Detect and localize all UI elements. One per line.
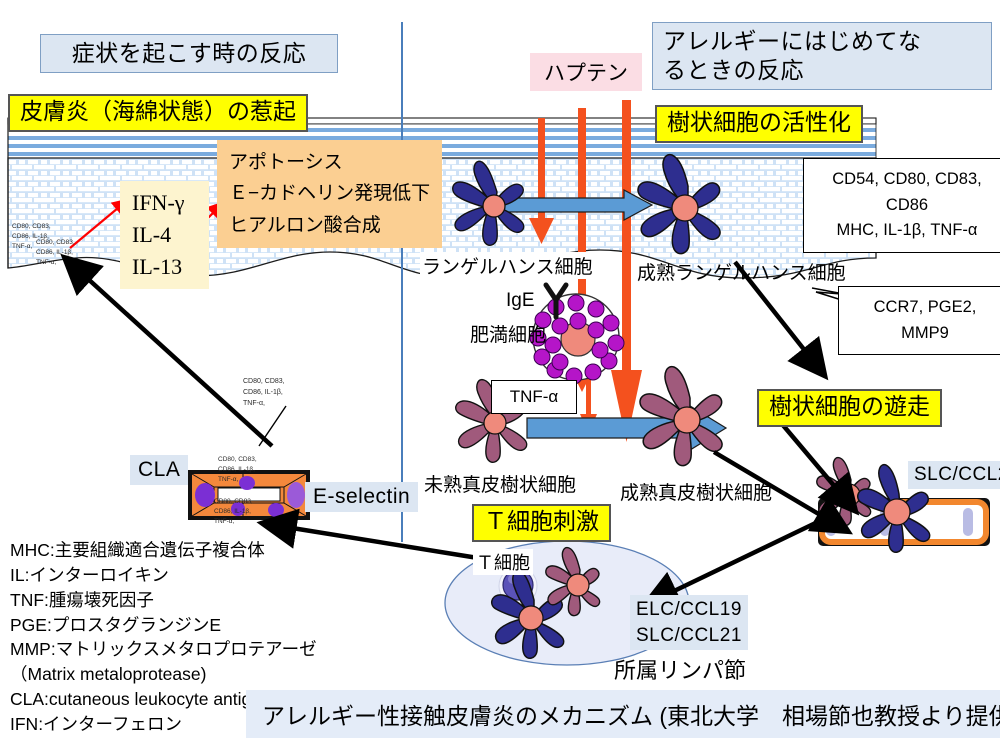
micro-vessel-markers-b: CD80, CD83, CD86, IL-1β, TNF-α, [218, 455, 257, 485]
label-dermatitis: 皮膚炎（海綿状態）の惹起 [8, 94, 308, 132]
header-left: 症状を起こす時の反応 [40, 34, 338, 73]
dermal-dc-mature [640, 367, 722, 466]
box-cytokines: IFN-γ IL-4 IL-13 [120, 181, 209, 289]
label-hapten: ハプテン [530, 53, 642, 91]
label-t-cell: Ｔ細胞 [473, 549, 533, 575]
label-slc-ccl21: SLC/CCL21 [908, 461, 1000, 489]
micro-vessel-markers-a: CD80, CD83, CD86, IL-1β, TNF-α, [243, 377, 285, 410]
label-mature-dermal-dc: 成熟真皮樹状細胞 [620, 478, 772, 505]
micro-vessel-markers-c: CD80, CD83, CD86, IL-1β, TNF-α, [214, 497, 253, 527]
micro-epidermis-markers-b: CD80, CD83, CD86, IL-1β, TNF-α, [36, 238, 75, 268]
callout-activation-markers: CD54, CD80, CD83, CD86 MHC, IL-1β, TNF-α [803, 158, 1000, 253]
label-dc-activation: 樹状細胞の活性化 [655, 105, 863, 143]
label-t-cell-stimulation: Ｔ細胞刺激 [472, 504, 611, 542]
header-right: アレルギーにはじめてな るときの反応 [652, 22, 992, 90]
callout-migration-markers: CCR7, PGE2, MMP9 [838, 286, 1000, 355]
label-dc-migration: 樹状細胞の遊走 [757, 389, 942, 427]
label-mast-cell: 肥満細胞 [470, 320, 546, 347]
label-ige: IgE [506, 290, 535, 312]
box-tnf-alpha: TNF-α [491, 380, 577, 414]
label-lymph-node: 所属リンパ節 [614, 653, 746, 685]
figure-caption: アレルギー性接触皮膚炎のメカニズム (東北大学 相場節也教授より提供） [246, 690, 1000, 738]
label-langerhans-cell: ランゲルハンス細胞 [420, 252, 595, 279]
label-cla: CLA [130, 455, 188, 485]
label-e-selectin: E-selectin [305, 482, 418, 512]
box-apoptosis: アポトーシス Ｅ−カドヘリン発現低下 ヒアルロン酸合成 [217, 140, 442, 248]
label-elc-slc: ELC/CCL19 SLC/CCL21 [630, 595, 748, 650]
label-immature-dermal-dc: 未熟真皮樹状細胞 [424, 470, 576, 497]
label-mature-langerhans-cell: 成熟ランゲルハンス細胞 [637, 258, 846, 285]
